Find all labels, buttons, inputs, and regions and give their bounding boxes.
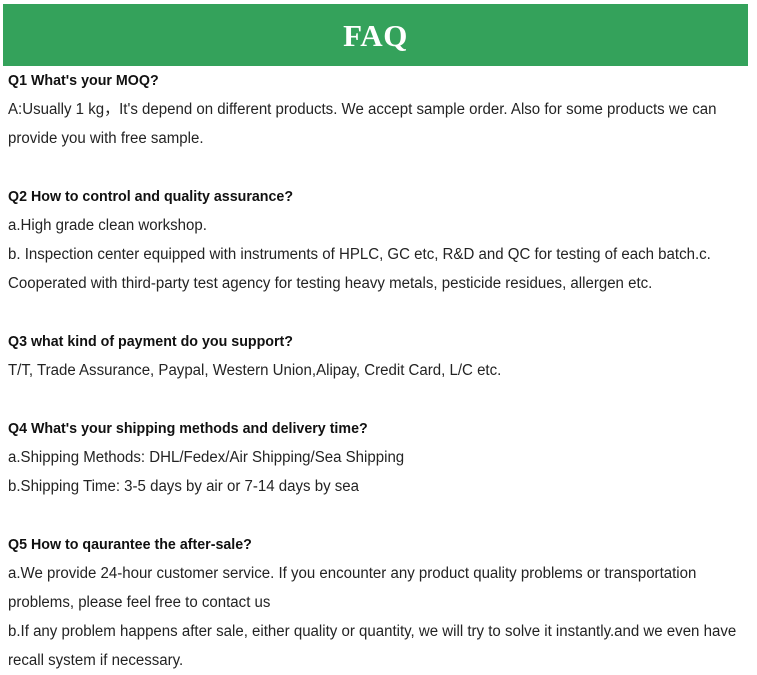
faq-answer: T/T, Trade Assurance, Paypal, Western Un… xyxy=(8,356,748,385)
faq-page: FAQ Q1 What's your MOQ? A:Usually 1 kg，I… xyxy=(0,0,757,612)
faq-question: Q4 What's your shipping methods and deli… xyxy=(8,414,712,443)
faq-banner-title: FAQ xyxy=(343,20,408,51)
faq-answer: A:Usually 1 kg，It's depend on different … xyxy=(8,95,748,153)
faq-question: Q5 How to qaurantee the after-sale? xyxy=(8,530,712,559)
faq-answer: b. Inspection center equipped with instr… xyxy=(8,240,748,298)
faq-item: Q1 What's your MOQ? A:Usually 1 kg，It's … xyxy=(8,66,749,153)
faq-question: Q2 How to control and quality assurance? xyxy=(8,182,712,211)
faq-item: Q2 How to control and quality assurance?… xyxy=(8,182,749,298)
faq-item: Q5 How to qaurantee the after-sale? a.We… xyxy=(8,530,749,675)
faq-item: Q3 what kind of payment do you support? … xyxy=(8,327,749,385)
faq-answer: a.Shipping Methods: DHL/Fedex/Air Shippi… xyxy=(8,443,748,472)
faq-answer: a.High grade clean workshop. xyxy=(8,211,748,240)
faq-answer: a.We provide 24-hour customer service. I… xyxy=(8,559,748,617)
faq-answer: b.If any problem happens after sale, eit… xyxy=(8,617,748,675)
faq-list: Q1 What's your MOQ? A:Usually 1 kg，It's … xyxy=(0,66,757,675)
faq-item: Q4 What's your shipping methods and deli… xyxy=(8,414,749,501)
faq-question: Q3 what kind of payment do you support? xyxy=(8,327,712,356)
faq-answer: b.Shipping Time: 3-5 days by air or 7-14… xyxy=(8,472,748,501)
faq-question: Q1 What's your MOQ? xyxy=(8,66,712,95)
faq-banner: FAQ xyxy=(3,4,748,66)
